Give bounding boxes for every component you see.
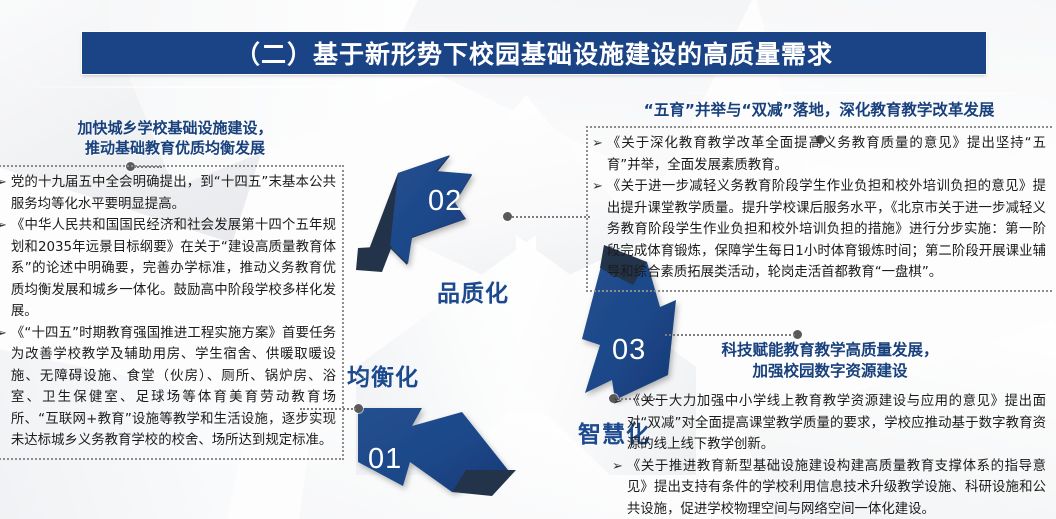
- list-item: ➢ 《关于推进教育新型基础设施建设构建高质量教育支撑体系的指导意见》提出支持有条…: [612, 456, 1046, 519]
- list-item-text: 《关于进一步减轻义务教育阶段学生作业负担和校外培训负担的意见》提出提升课堂教学质…: [607, 176, 1046, 284]
- list-item: ➢ 《关于进一步减轻义务教育阶段学生作业负担和校外培训负担的意见》提出提升课堂教…: [592, 176, 1046, 284]
- bullet-arrow-icon: ➢: [0, 172, 7, 194]
- block-left-heading-line1: 加快城乡学校基础设施建设，: [6, 118, 344, 138]
- block-top-right-body: ➢ 《关于深化教育教学改革全面提高义务教育质量的意见》提出坚持“五育”并举，全面…: [586, 126, 1052, 292]
- text-block-left: 加快城乡学校基础设施建设， 推动基础教育优质均衡发展 ➢ 党的十九届五中全会明确…: [0, 118, 344, 460]
- block-left-heading-line2: 推动基础教育优质均衡发展: [6, 138, 344, 158]
- wedge-label-pinzhihua: 品质化: [437, 274, 509, 308]
- block-left-heading: 加快城乡学校基础设施建设， 推动基础教育优质均衡发展: [0, 118, 344, 158]
- bullet-arrow-icon: ➢: [592, 133, 603, 155]
- block-bottom-right-heading: 科技赋能教育教学高质量发展， 加强校园数字资源建设: [608, 340, 1052, 382]
- list-item: ➢ 《中华人民共和国国民经济和社会发展第十四个五年规划和2035年远景目标纲要》…: [0, 215, 336, 323]
- text-block-top-right: “五育”并举与“双减”落地，深化教育教学改革发展 ➢ 《关于深化教育教学改革全面…: [586, 100, 1052, 292]
- page-title: （二）基于新形势下校园基础设施建设的高质量需求: [235, 35, 833, 71]
- wedge-label-junhenghua: 均衡化: [347, 358, 419, 392]
- list-item: ➢ 党的十九届五中全会明确提出，到“十四五”末基本公共服务均等化水平要明显提高。: [0, 172, 336, 215]
- slide-canvas: （二）基于新形势下校园基础设施建设的高质量需求: [0, 0, 1056, 519]
- block-top-right-heading: “五育”并举与“双减”落地，深化教育教学改革发展: [586, 100, 1052, 120]
- list-item-text: 《关于推进教育新型基础设施建设构建高质量教育支撑体系的指导意见》提出支持有条件的…: [627, 456, 1046, 519]
- list-item-text: 《关于大力加强中小学线上教育教学资源建设与应用的意见》提出面对“双减”对全面提高…: [627, 391, 1046, 456]
- bullet-arrow-icon: ➢: [612, 456, 623, 478]
- bullet-arrow-icon: ➢: [0, 323, 7, 345]
- text-block-bottom-right: 科技赋能教育教学高质量发展， 加强校园数字资源建设 ➢ 《关于大力加强中小学线上…: [608, 340, 1052, 519]
- bullet-arrow-icon: ➢: [612, 391, 623, 413]
- list-item-text: 党的十九届五中全会明确提出，到“十四五”末基本公共服务均等化水平要明显提高。: [11, 172, 336, 215]
- block-bottom-right-body: ➢ 《关于大力加强中小学线上教育教学资源建设与应用的意见》提出面对“双减”对全面…: [608, 386, 1052, 519]
- list-item-text: 《关于深化教育教学改革全面提高义务教育质量的意见》提出坚持“五育”并举，全面发展…: [607, 133, 1046, 176]
- list-item: ➢ 《关于深化教育教学改革全面提高义务教育质量的意见》提出坚持“五育”并举，全面…: [592, 133, 1046, 176]
- arrow-number-01: 01: [368, 443, 402, 476]
- bullet-arrow-icon: ➢: [0, 215, 7, 237]
- list-item: ➢ 《关于大力加强中小学线上教育教学资源建设与应用的意见》提出面对“双减”对全面…: [612, 391, 1046, 456]
- background-streak: [640, 92, 1056, 94]
- connector-dot-top-center: [503, 212, 512, 221]
- bullet-arrow-icon: ➢: [592, 176, 603, 198]
- list-item: ➢ 《“十四五”时期教育强国推进工程实施方案》首要任务为改善学校教学及辅助用房、…: [0, 323, 336, 452]
- connector-line-right-mid: [665, 334, 795, 336]
- block-bottom-right-heading-line1: 科技赋能教育教学高质量发展，: [608, 340, 1052, 361]
- connector-line-top: [512, 216, 590, 218]
- list-item-text: 《“十四五”时期教育强国推进工程实施方案》首要任务为改善学校教学及辅助用房、学生…: [11, 323, 336, 452]
- wedge-left-junhenghua: [356, 235, 536, 475]
- background-streak: [0, 86, 420, 88]
- slide-title-bar: （二）基于新形势下校园基础设施建设的高质量需求: [82, 32, 986, 74]
- block-left-body: ➢ 党的十九届五中全会明确提出，到“十四五”末基本公共服务均等化水平要明显提高。…: [0, 165, 344, 460]
- list-item-text: 《中华人民共和国国民经济和社会发展第十四个五年规划和2035年远景目标纲要》在关…: [11, 215, 336, 323]
- arrow-number-02: 02: [428, 185, 462, 218]
- block-bottom-right-heading-line2: 加强校园数字资源建设: [608, 361, 1052, 382]
